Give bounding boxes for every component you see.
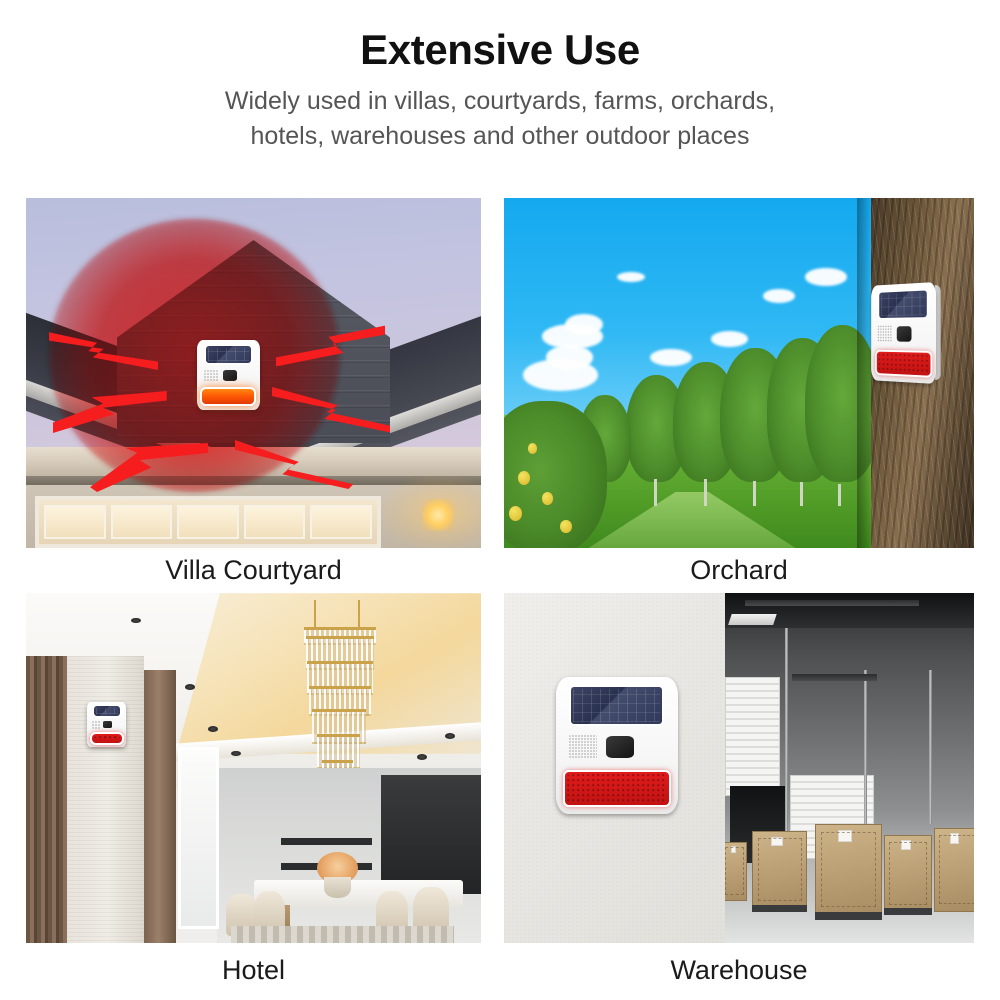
- sound-wave-icon: [272, 387, 390, 433]
- caption-hotel: Hotel: [26, 943, 481, 998]
- trunk-shadow: [857, 198, 871, 548]
- cargo-crate: [752, 831, 807, 908]
- cargo-crate: [884, 835, 931, 912]
- solar-panel: [92, 704, 122, 718]
- pir-lens-icon: [103, 721, 112, 728]
- ceiling-light: [728, 614, 776, 625]
- solar-alarm-siren[interactable]: [87, 702, 126, 748]
- subtitle-line-1: Widely used in villas, courtyards, farms…: [0, 84, 1000, 119]
- floor-rug: [231, 926, 454, 944]
- tree-trunk: [753, 481, 756, 506]
- warehouse-photo: [504, 593, 974, 943]
- garage-pane: [310, 505, 372, 540]
- garage-pane: [177, 505, 239, 540]
- pir-lens-icon: [223, 370, 238, 381]
- solar-panel: [204, 344, 254, 365]
- tree-trunk: [838, 484, 841, 506]
- warehouse-interior: [725, 593, 974, 943]
- pir-lens-icon: [897, 326, 912, 342]
- crate-label: [731, 846, 736, 853]
- vertical-conduit: [785, 628, 788, 845]
- strobe-light: [875, 350, 932, 378]
- apple-fruit: [509, 506, 522, 521]
- garage-pane: [44, 505, 106, 540]
- villa-photo: [26, 198, 481, 548]
- crate-label: [838, 830, 852, 842]
- horizontal-rail: [792, 674, 877, 682]
- pallet: [884, 908, 931, 915]
- crate-label: [901, 840, 911, 850]
- speaker-grille-icon: [569, 735, 597, 759]
- tree-trunk: [800, 482, 803, 506]
- garage-pane: [111, 505, 173, 540]
- solar-alarm-siren[interactable]: [197, 340, 261, 410]
- pir-lens-icon: [606, 736, 634, 758]
- cloud: [805, 268, 847, 286]
- garage-pane: [244, 505, 306, 540]
- cloud: [617, 272, 645, 283]
- porch-light: [422, 499, 454, 531]
- strobe-light: [563, 770, 671, 807]
- panel-villa-courtyard[interactable]: [26, 198, 481, 548]
- apple-fruit: [542, 492, 553, 505]
- cargo-crate: [934, 828, 974, 912]
- cargo-crate: [815, 824, 882, 915]
- sound-wave-icon: [276, 321, 385, 367]
- device-midsection: [90, 719, 124, 730]
- device-midsection: [875, 322, 932, 347]
- tree-trunk: [704, 479, 707, 506]
- page-header: Extensive Use Widely used in villas, cou…: [0, 0, 1000, 153]
- window: [178, 747, 219, 929]
- crate-label: [771, 837, 783, 847]
- speaker-grille-icon: [204, 370, 219, 382]
- roller-door: [725, 677, 780, 796]
- dark-kitchen-wall: [381, 775, 481, 894]
- sound-wave-icon: [90, 443, 208, 492]
- sound-wave-icon: [53, 391, 167, 433]
- recessed-downlight: [445, 733, 455, 739]
- solar-alarm-siren[interactable]: [556, 677, 678, 814]
- speaker-grille-icon: [878, 326, 892, 343]
- subtitle-line-2: hotels, warehouses and other outdoor pla…: [0, 119, 1000, 154]
- chandelier-rod: [314, 600, 317, 627]
- solar-panel: [878, 288, 929, 319]
- wood-slat-panel: [26, 656, 67, 943]
- caption-warehouse: Warehouse: [504, 943, 974, 998]
- vertical-conduit: [929, 670, 932, 824]
- panel-warehouse[interactable]: [504, 593, 974, 943]
- sound-wave-icon: [49, 328, 158, 370]
- solar-panel: [569, 685, 664, 726]
- recessed-downlight: [208, 726, 218, 732]
- strobe-light: [200, 387, 256, 406]
- page-title: Extensive Use: [0, 28, 1000, 72]
- panel-orchard[interactable]: [504, 198, 974, 548]
- cargo-crate: [725, 842, 747, 902]
- display-shelf: [281, 838, 372, 845]
- sound-wave-icon: [235, 440, 353, 489]
- recessed-downlight: [131, 618, 141, 624]
- horizontal-rail: [745, 600, 919, 606]
- cloud: [763, 289, 796, 303]
- hotel-photo: [26, 593, 481, 943]
- recessed-downlight: [231, 751, 241, 757]
- garage-panes: [44, 505, 372, 540]
- recessed-downlight: [185, 684, 195, 690]
- strobe-light: [90, 732, 124, 744]
- crate-label: [950, 833, 959, 844]
- product-feature-page: Extensive Use Widely used in villas, cou…: [0, 0, 1000, 1000]
- cloud: [565, 314, 603, 335]
- device-midsection: [200, 367, 256, 385]
- recessed-downlight: [417, 754, 427, 760]
- apple-fruit: [528, 443, 537, 454]
- device-midsection: [563, 730, 671, 764]
- pallet: [752, 905, 807, 912]
- caption-villa-courtyard: Villa Courtyard: [26, 548, 481, 593]
- tree-trunk: [654, 479, 657, 506]
- caption-orchard: Orchard: [504, 548, 974, 593]
- orchard-photo: [504, 198, 974, 548]
- wall-column: [144, 670, 176, 943]
- garage-door: [35, 496, 381, 549]
- vase: [324, 877, 351, 898]
- speaker-grille-icon: [92, 721, 101, 729]
- solar-alarm-siren[interactable]: [871, 282, 936, 384]
- vertical-conduit: [864, 670, 867, 831]
- chandelier-rod: [358, 600, 361, 627]
- use-case-grid: Villa Courtyard Orchard: [0, 198, 1000, 998]
- panel-hotel[interactable]: [26, 593, 481, 943]
- page-subtitle: Widely used in villas, courtyards, farms…: [0, 84, 1000, 153]
- pallet: [815, 912, 882, 920]
